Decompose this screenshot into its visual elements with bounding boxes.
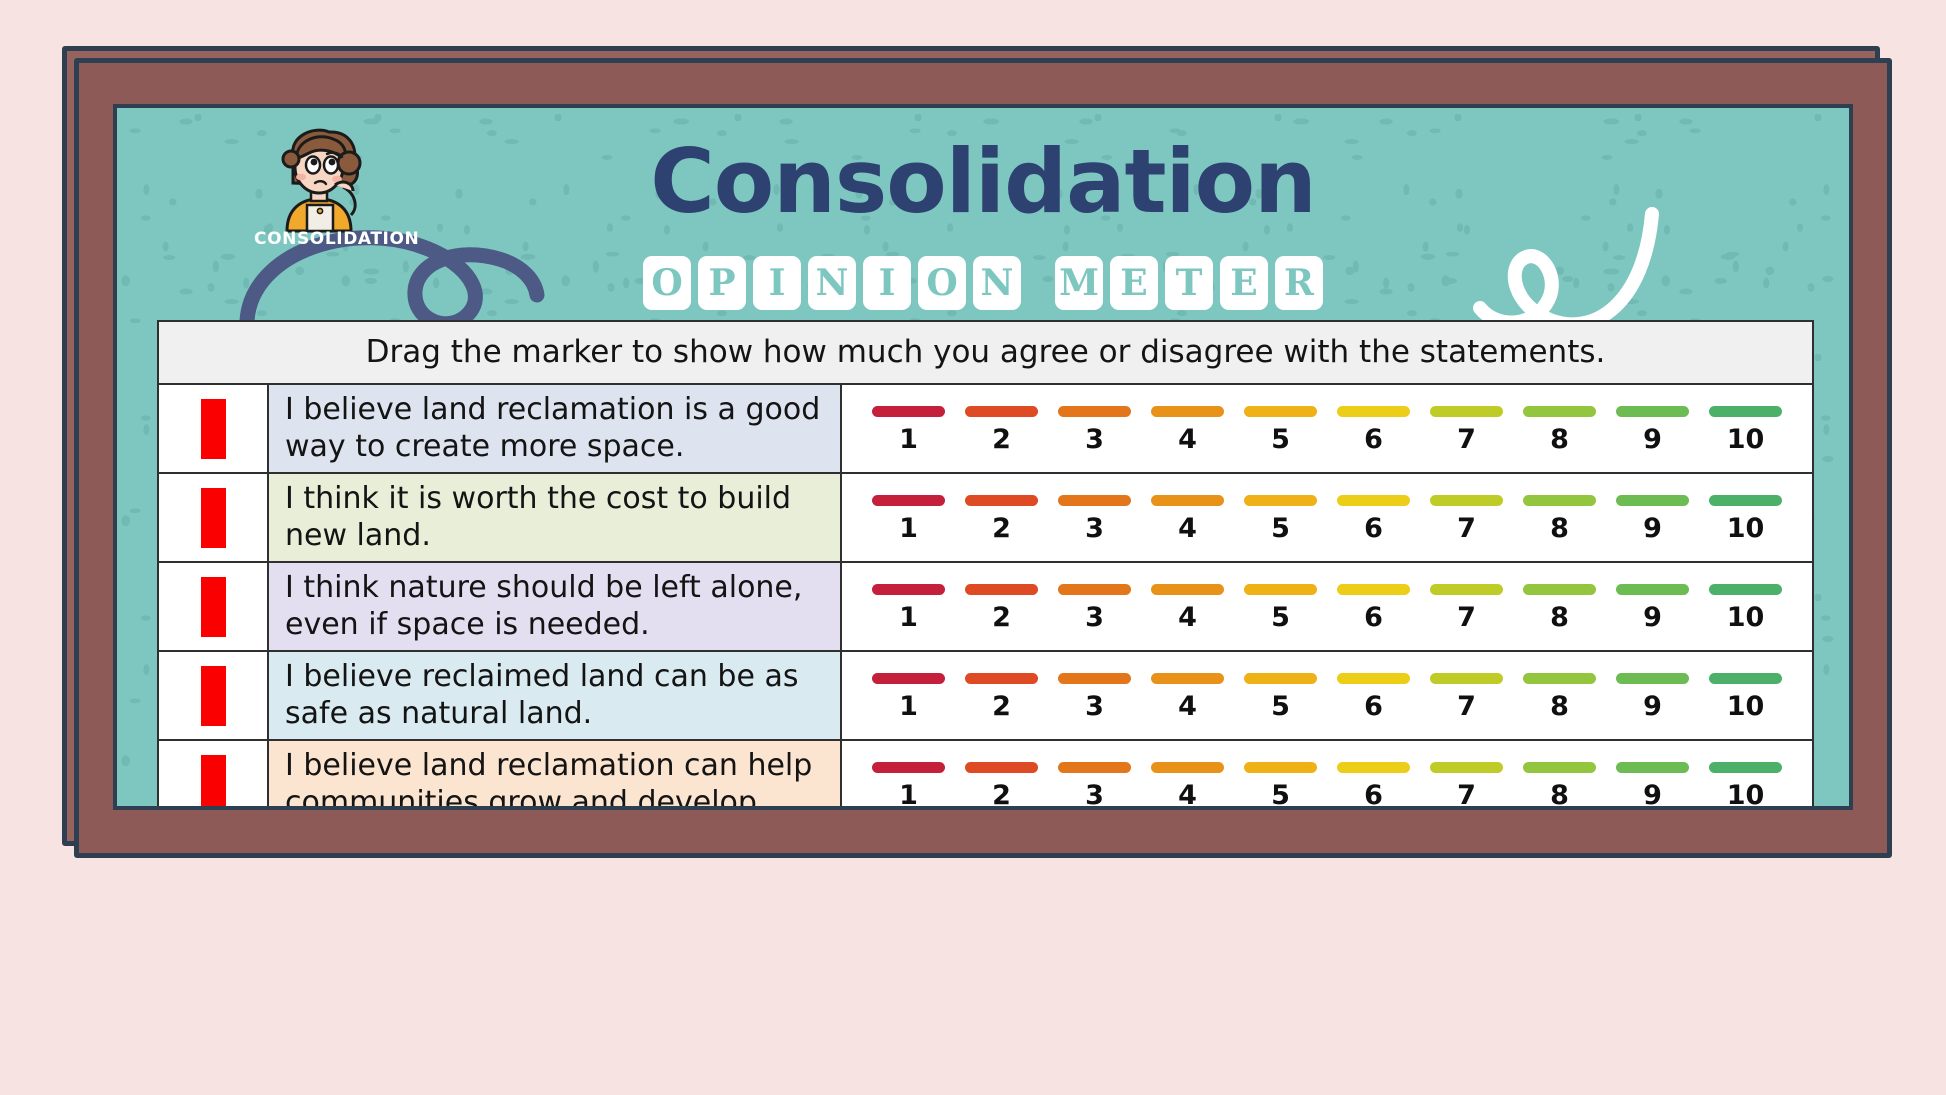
scale-tick-bar	[1151, 762, 1224, 773]
scale-tick[interactable]: 8	[1523, 495, 1596, 544]
scale-tick[interactable]: 10	[1709, 762, 1782, 810]
scale-tick-label: 1	[899, 780, 918, 810]
scale-tick-label: 9	[1643, 424, 1662, 455]
scale-tick[interactable]: 10	[1709, 584, 1782, 633]
scale-tick[interactable]: 5	[1244, 673, 1317, 722]
table-row: I believe reclaimed land can be as safe …	[159, 652, 1812, 741]
scale-tick-label: 8	[1550, 424, 1569, 455]
scale-tick-bar	[1058, 495, 1131, 506]
scale-tick-label: 4	[1178, 424, 1197, 455]
scale-tick[interactable]: 10	[1709, 673, 1782, 722]
subtitle-gap	[1028, 256, 1048, 310]
scale-tick[interactable]: 8	[1523, 762, 1596, 810]
scale-tick-label: 5	[1271, 780, 1290, 810]
scale-tick[interactable]: 3	[1058, 673, 1131, 722]
statement-cell: I think nature should be left alone, eve…	[269, 563, 842, 650]
scale-tick-label: 8	[1550, 780, 1569, 810]
table-row: I think nature should be left alone, eve…	[159, 563, 1812, 652]
rating-scale: 12345678910	[872, 584, 1782, 633]
table-row: I think it is worth the cost to build ne…	[159, 474, 1812, 563]
scale-tick-label: 10	[1727, 513, 1765, 544]
scale-tick[interactable]: 6	[1337, 495, 1410, 544]
drag-marker[interactable]	[201, 666, 226, 726]
statement-cell: I believe land reclamation can help comm…	[269, 741, 842, 810]
scale-tick-bar	[1151, 673, 1224, 684]
scale-tick-bar	[1616, 406, 1689, 417]
scale-cell[interactable]: 12345678910	[842, 652, 1812, 739]
scale-tick-label: 8	[1550, 602, 1569, 633]
scale-tick-label: 6	[1364, 691, 1383, 722]
scale-tick[interactable]: 10	[1709, 406, 1782, 455]
rating-scale: 12345678910	[872, 495, 1782, 544]
marker-cell[interactable]	[159, 563, 269, 650]
scale-tick[interactable]: 2	[965, 762, 1038, 810]
scale-tick[interactable]: 8	[1523, 584, 1596, 633]
scale-tick-bar	[1244, 673, 1317, 684]
scale-tick-label: 8	[1550, 513, 1569, 544]
scale-tick[interactable]: 5	[1244, 584, 1317, 633]
scale-tick-bar	[1337, 762, 1410, 773]
scale-tick-bar	[872, 495, 945, 506]
scale-tick-bar	[1244, 495, 1317, 506]
subtitle-letter: O	[918, 256, 966, 310]
scale-tick-label: 7	[1457, 780, 1476, 810]
scale-tick-label: 1	[899, 424, 918, 455]
scale-tick[interactable]: 5	[1244, 406, 1317, 455]
scale-tick[interactable]: 1	[872, 406, 945, 455]
scale-tick-bar	[1337, 673, 1410, 684]
scale-tick[interactable]: 1	[872, 584, 945, 633]
scale-tick-bar	[1523, 762, 1596, 773]
drag-marker[interactable]	[201, 577, 226, 637]
scale-tick[interactable]: 6	[1337, 762, 1410, 810]
statement-cell: I believe land reclamation is a good way…	[269, 385, 842, 472]
scale-tick-label: 9	[1643, 780, 1662, 810]
scale-tick-bar	[1523, 673, 1596, 684]
scale-tick-label: 3	[1085, 780, 1104, 810]
scale-tick-bar	[1058, 673, 1131, 684]
scale-tick-bar	[872, 406, 945, 417]
scale-tick-bar	[1058, 762, 1131, 773]
scale-tick-label: 5	[1271, 424, 1290, 455]
scale-tick-bar	[1058, 406, 1131, 417]
scale-tick-bar	[1430, 762, 1503, 773]
scale-tick-label: 4	[1178, 513, 1197, 544]
scale-tick-bar	[1151, 406, 1224, 417]
scale-tick-label: 2	[992, 513, 1011, 544]
scale-tick-label: 2	[992, 602, 1011, 633]
scale-tick-bar	[1523, 406, 1596, 417]
statement-rows: I believe land reclamation is a good way…	[159, 385, 1812, 810]
scale-tick-label: 10	[1727, 602, 1765, 633]
drag-marker[interactable]	[201, 488, 226, 548]
scale-tick-bar	[1244, 762, 1317, 773]
scale-tick[interactable]: 4	[1151, 584, 1224, 633]
subtitle-letter: P	[698, 256, 746, 310]
scale-tick-bar	[1616, 584, 1689, 595]
scale-tick[interactable]: 1	[872, 762, 945, 810]
scale-tick[interactable]: 4	[1151, 495, 1224, 544]
scale-tick[interactable]: 2	[965, 673, 1038, 722]
scale-tick-label: 5	[1271, 513, 1290, 544]
consolidation-badge: CONSOLIDATION	[254, 123, 384, 249]
subtitle-letter: E	[1220, 256, 1268, 310]
scale-tick[interactable]: 7	[1430, 584, 1503, 633]
scale-tick-bar	[1430, 584, 1503, 595]
scale-tick-label: 1	[899, 602, 918, 633]
scale-cell[interactable]: 12345678910	[842, 474, 1812, 561]
scale-tick-bar	[1709, 584, 1782, 595]
scale-tick[interactable]: 2	[965, 406, 1038, 455]
scale-tick[interactable]: 4	[1151, 673, 1224, 722]
scale-tick-bar	[872, 584, 945, 595]
marker-cell[interactable]	[159, 385, 269, 472]
scale-tick-label: 8	[1550, 691, 1569, 722]
subtitle-letter: T	[1165, 256, 1213, 310]
scale-tick-label: 10	[1727, 780, 1765, 810]
scale-tick[interactable]: 8	[1523, 406, 1596, 455]
scale-tick-bar	[1616, 673, 1689, 684]
subtitle-letter: I	[753, 256, 801, 310]
scale-tick-label: 7	[1457, 424, 1476, 455]
scale-tick[interactable]: 9	[1616, 762, 1689, 810]
subtitle-letter: E	[1110, 256, 1158, 310]
scale-tick-label: 2	[992, 691, 1011, 722]
badge-label: CONSOLIDATION	[254, 229, 384, 249]
scale-tick-bar	[965, 406, 1038, 417]
thinking-student-icon	[263, 123, 375, 233]
scale-tick-label: 1	[899, 691, 918, 722]
marker-cell[interactable]	[159, 652, 269, 739]
scale-tick-bar	[1430, 406, 1503, 417]
scale-tick[interactable]: 4	[1151, 762, 1224, 810]
scale-tick-bar	[1151, 584, 1224, 595]
scale-tick[interactable]: 8	[1523, 673, 1596, 722]
marker-cell[interactable]	[159, 741, 269, 810]
table-row: I believe land reclamation can help comm…	[159, 741, 1812, 810]
rating-scale: 12345678910	[872, 762, 1782, 810]
scale-tick[interactable]: 9	[1616, 406, 1689, 455]
statement-cell: I think it is worth the cost to build ne…	[269, 474, 842, 561]
scale-tick-bar	[1709, 673, 1782, 684]
scale-tick-bar	[1430, 673, 1503, 684]
scale-tick-label: 3	[1085, 691, 1104, 722]
scale-tick-label: 4	[1178, 780, 1197, 810]
scale-tick-bar	[965, 762, 1038, 773]
scale-tick-bar	[872, 673, 945, 684]
marker-cell[interactable]	[159, 474, 269, 561]
rating-scale: 12345678910	[872, 673, 1782, 722]
scale-tick[interactable]: 5	[1244, 495, 1317, 544]
scale-tick-label: 2	[992, 424, 1011, 455]
scale-tick-label: 6	[1364, 513, 1383, 544]
scale-tick-label: 1	[899, 513, 918, 544]
scale-tick-bar	[1523, 584, 1596, 595]
scale-tick[interactable]: 9	[1616, 495, 1689, 544]
scale-tick-label: 2	[992, 780, 1011, 810]
scale-tick-label: 3	[1085, 513, 1104, 544]
scale-cell[interactable]: 12345678910	[842, 385, 1812, 472]
scale-tick[interactable]: 6	[1337, 584, 1410, 633]
scale-tick[interactable]: 2	[965, 584, 1038, 633]
scale-tick-bar	[1058, 584, 1131, 595]
scale-tick-label: 5	[1271, 602, 1290, 633]
scale-tick[interactable]: 1	[872, 495, 945, 544]
scale-tick[interactable]: 4	[1151, 406, 1224, 455]
scale-tick[interactable]: 7	[1430, 495, 1503, 544]
scale-tick-bar	[1337, 495, 1410, 506]
scale-tick-bar	[1709, 495, 1782, 506]
scale-tick-label: 5	[1271, 691, 1290, 722]
scale-tick-label: 6	[1364, 424, 1383, 455]
scale-tick[interactable]: 3	[1058, 406, 1131, 455]
scale-tick[interactable]: 1	[872, 673, 945, 722]
scale-tick[interactable]: 5	[1244, 762, 1317, 810]
scale-tick-bar	[1616, 762, 1689, 773]
scale-tick[interactable]: 9	[1616, 673, 1689, 722]
slide-stage: CONSOLIDATION Consolidation O P I N I O …	[0, 0, 1946, 1095]
scale-tick-bar	[1616, 495, 1689, 506]
scale-tick-bar	[1709, 406, 1782, 417]
scale-tick-bar	[1244, 406, 1317, 417]
scale-tick[interactable]: 9	[1616, 584, 1689, 633]
scale-tick-bar	[1709, 762, 1782, 773]
scale-tick[interactable]: 10	[1709, 495, 1782, 544]
scale-tick-bar	[1430, 495, 1503, 506]
subtitle-letter: I	[863, 256, 911, 310]
scale-cell[interactable]: 12345678910	[842, 741, 1812, 810]
subtitle-letter: O	[643, 256, 691, 310]
subtitle-letter: N	[973, 256, 1021, 310]
drag-marker[interactable]	[201, 399, 226, 459]
scale-tick-label: 7	[1457, 513, 1476, 544]
scale-tick-label: 3	[1085, 424, 1104, 455]
scale-tick-bar	[965, 495, 1038, 506]
scale-tick-label: 4	[1178, 602, 1197, 633]
scale-tick[interactable]: 7	[1430, 762, 1503, 810]
scale-tick[interactable]: 6	[1337, 673, 1410, 722]
scale-tick-label: 10	[1727, 424, 1765, 455]
subtitle-letter: N	[808, 256, 856, 310]
chalkboard-surface: CONSOLIDATION Consolidation O P I N I O …	[113, 104, 1853, 810]
scale-tick-bar	[1337, 584, 1410, 595]
scale-tick-label: 4	[1178, 691, 1197, 722]
scale-tick-label: 7	[1457, 691, 1476, 722]
scale-tick[interactable]: 7	[1430, 406, 1503, 455]
subtitle-letter: M	[1055, 256, 1103, 310]
scale-tick[interactable]: 3	[1058, 584, 1131, 633]
subtitle: O P I N I O N M E T E R	[117, 256, 1849, 310]
scale-tick-bar	[965, 584, 1038, 595]
scale-tick-label: 3	[1085, 602, 1104, 633]
scale-tick-label: 9	[1643, 691, 1662, 722]
scale-tick-label: 9	[1643, 513, 1662, 544]
scale-tick-bar	[965, 673, 1038, 684]
scale-tick-label: 10	[1727, 691, 1765, 722]
scale-tick-bar	[1151, 495, 1224, 506]
table-row: I believe land reclamation is a good way…	[159, 385, 1812, 474]
scale-tick-label: 6	[1364, 602, 1383, 633]
scale-cell[interactable]: 12345678910	[842, 563, 1812, 650]
scale-tick-bar	[1337, 406, 1410, 417]
scale-tick-label: 6	[1364, 780, 1383, 810]
scale-tick[interactable]: 7	[1430, 673, 1503, 722]
drag-marker[interactable]	[201, 755, 226, 811]
scale-tick[interactable]: 2	[965, 495, 1038, 544]
scale-tick-bar	[872, 762, 945, 773]
scale-tick-bar	[1244, 584, 1317, 595]
opinion-meter-table: Drag the marker to show how much you agr…	[157, 320, 1814, 810]
subtitle-letter: R	[1275, 256, 1323, 310]
scale-tick-bar	[1523, 495, 1596, 506]
statement-cell: I believe reclaimed land can be as safe …	[269, 652, 842, 739]
scale-tick-label: 9	[1643, 602, 1662, 633]
scale-tick[interactable]: 3	[1058, 495, 1131, 544]
scale-tick[interactable]: 3	[1058, 762, 1131, 810]
instruction-bar: Drag the marker to show how much you agr…	[159, 322, 1812, 385]
scale-tick[interactable]: 6	[1337, 406, 1410, 455]
scale-tick-label: 7	[1457, 602, 1476, 633]
rating-scale: 12345678910	[872, 406, 1782, 455]
